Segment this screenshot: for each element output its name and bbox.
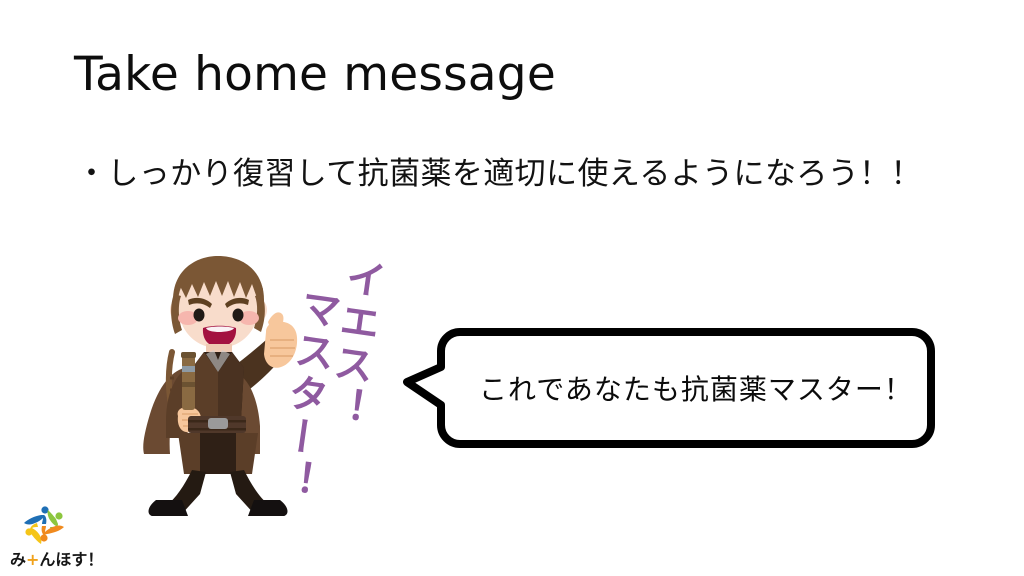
lightsaber-hilt <box>181 352 196 410</box>
tabard <box>198 433 238 474</box>
minhosu-logo-mark <box>20 504 68 546</box>
skirt-left <box>178 433 200 474</box>
slide-canvas: Take home message ・しっかり復習して抗菌薬を適切に使えるように… <box>0 0 1024 576</box>
speech-bubble: これであなたも抗菌薬マスター！ <box>402 327 936 449</box>
eye-left <box>194 309 205 322</box>
logo-person-yellow <box>25 523 41 544</box>
page-title: Take home message <box>74 48 556 102</box>
eye-right <box>233 309 244 322</box>
minhosu-logo: み+んほす！ <box>8 504 100 570</box>
bullet-point-text: ・しっかり復習して抗菌薬を適切に使えるようになろう！！ <box>76 148 922 193</box>
logo-text-before: み <box>10 550 26 569</box>
logo-person-blue <box>24 506 49 524</box>
skirt-right <box>236 433 258 474</box>
boot-right <box>248 500 287 516</box>
minhosu-logo-text: み+んほす！ <box>10 546 103 570</box>
logo-text-plus: + <box>26 550 39 569</box>
logo-person-orange <box>40 526 64 542</box>
speech-bubble-text: これであなたも抗菌薬マスター！ <box>470 327 922 449</box>
boot-left <box>149 500 188 516</box>
logo-text-after: んほす！ <box>39 550 103 569</box>
belt-buckle <box>208 418 228 429</box>
